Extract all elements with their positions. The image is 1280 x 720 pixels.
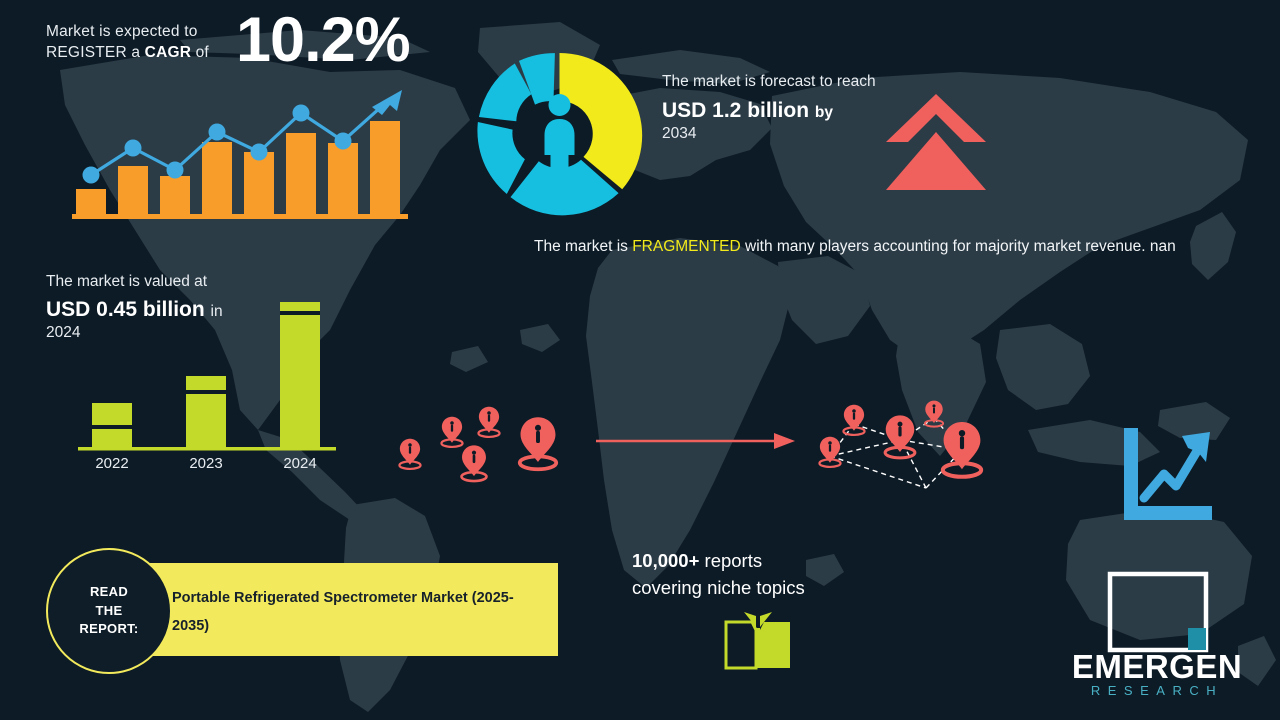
- cagr-label: CAGR: [145, 44, 191, 61]
- book-spine: [756, 628, 760, 668]
- fragmented-highlight: FRAGMENTED: [632, 238, 741, 255]
- read-report-label: READ THE REPORT:: [79, 583, 138, 638]
- marker: [167, 162, 184, 179]
- reports-count-line1: 10,000+ reports: [632, 548, 882, 575]
- map-pin-icon: [462, 445, 487, 481]
- map-pin-icon: [843, 405, 864, 435]
- report-title: Portable Refrigerated Spectrometer Marke…: [172, 585, 536, 640]
- donut-segment-cyan-2: [477, 122, 524, 194]
- forecast-value-row: USD 1.2 billion by: [662, 97, 892, 124]
- fragmented-post: with many players accounting for majorit…: [741, 238, 1176, 255]
- read-label-line3: REPORT:: [79, 621, 138, 636]
- read-label-line2: THE: [96, 603, 123, 618]
- marker: [335, 133, 352, 150]
- cagr-lead-line1: Market is expected to: [46, 23, 198, 40]
- marker: [209, 124, 226, 141]
- tick-label: 2024: [283, 455, 316, 472]
- forecast-year: 2034: [662, 124, 892, 144]
- book-right-page: [760, 622, 790, 668]
- bar: [118, 166, 148, 215]
- growth-chart-icon: [1118, 424, 1214, 524]
- bar: [286, 133, 316, 215]
- map-pin-icon: [441, 417, 462, 447]
- map-pins-network: [806, 388, 1006, 506]
- cagr-lead-line2-pre: REGISTER a: [46, 44, 145, 61]
- map-pin-icon: [478, 407, 499, 437]
- bar: [328, 143, 358, 215]
- market-value-bar-chart: 2022 2023 2024: [78, 292, 338, 472]
- read-report-button[interactable]: READ THE REPORT:: [46, 548, 172, 674]
- book-left-page: [726, 622, 756, 668]
- map-pin-icon: [885, 415, 915, 457]
- chart-baseline: [78, 447, 336, 451]
- logo-mark: [1106, 570, 1210, 656]
- fragmented-statement: The market is FRAGMENTED with many playe…: [534, 236, 1206, 258]
- bar-2024: [280, 302, 320, 448]
- tick-label: 2022: [95, 455, 128, 472]
- infographic-canvas: Market is expected to REGISTER a CAGR of…: [0, 0, 1280, 720]
- tick-label: 2023: [189, 455, 222, 472]
- map-pin-icon: [943, 422, 981, 477]
- marker: [125, 140, 142, 157]
- cagr-lead-text: Market is expected to REGISTER a CAGR of: [46, 22, 236, 64]
- map-pin-icon: [520, 417, 556, 469]
- forecast-lead-text: The market is forecast to reach: [662, 72, 892, 93]
- open-book-icon: [722, 610, 794, 672]
- valued-lead-text: The market is valued at: [46, 272, 346, 293]
- reports-count-number: 10,000+: [632, 550, 699, 571]
- map-pin-icon: [399, 439, 420, 469]
- bar-2023: [186, 376, 226, 448]
- map-pin-icon: [819, 437, 840, 467]
- read-report-bar[interactable]: Portable Refrigerated Spectrometer Marke…: [140, 563, 558, 656]
- read-label-line1: READ: [90, 584, 128, 599]
- reports-count-block: 10,000+ reports covering niche topics: [632, 548, 882, 602]
- cagr-lead-line2-post: of: [191, 44, 209, 61]
- reports-count-line2: covering niche topics: [632, 575, 882, 602]
- forecast-value-suffix: by: [815, 104, 833, 121]
- double-up-arrow-icon: [884, 92, 988, 192]
- reports-count-rest: reports: [699, 550, 762, 571]
- growth-line: [1144, 446, 1200, 498]
- bar: [160, 176, 190, 215]
- growth-trend-bar-chart: [72, 85, 412, 220]
- bar: [202, 142, 232, 215]
- bar: [76, 189, 106, 215]
- forecast-value: USD 1.2 billion: [662, 99, 809, 122]
- bar: [370, 121, 400, 215]
- logo-subtext: RESEARCH: [1050, 684, 1264, 697]
- logo-wordmark: EMERGEN: [1050, 650, 1264, 683]
- marker: [251, 144, 268, 161]
- emergen-research-logo: EMERGEN RESEARCH: [1050, 572, 1264, 704]
- share-donut-chart: [472, 48, 647, 223]
- bar: [244, 152, 274, 215]
- marker: [293, 105, 310, 122]
- map-pins-scattered: [382, 388, 572, 498]
- chart-baseline: [72, 214, 408, 219]
- fragmented-pre: The market is: [534, 238, 632, 255]
- marker: [83, 167, 100, 184]
- cagr-block: Market is expected to REGISTER a CAGR of…: [46, 22, 446, 64]
- forecast-block: The market is forecast to reach USD 1.2 …: [662, 72, 892, 144]
- x-axis-tick-labels: 2022 2023 2024: [95, 455, 316, 472]
- cagr-value: 10.2%: [236, 9, 410, 72]
- right-arrow-icon: [592, 428, 798, 454]
